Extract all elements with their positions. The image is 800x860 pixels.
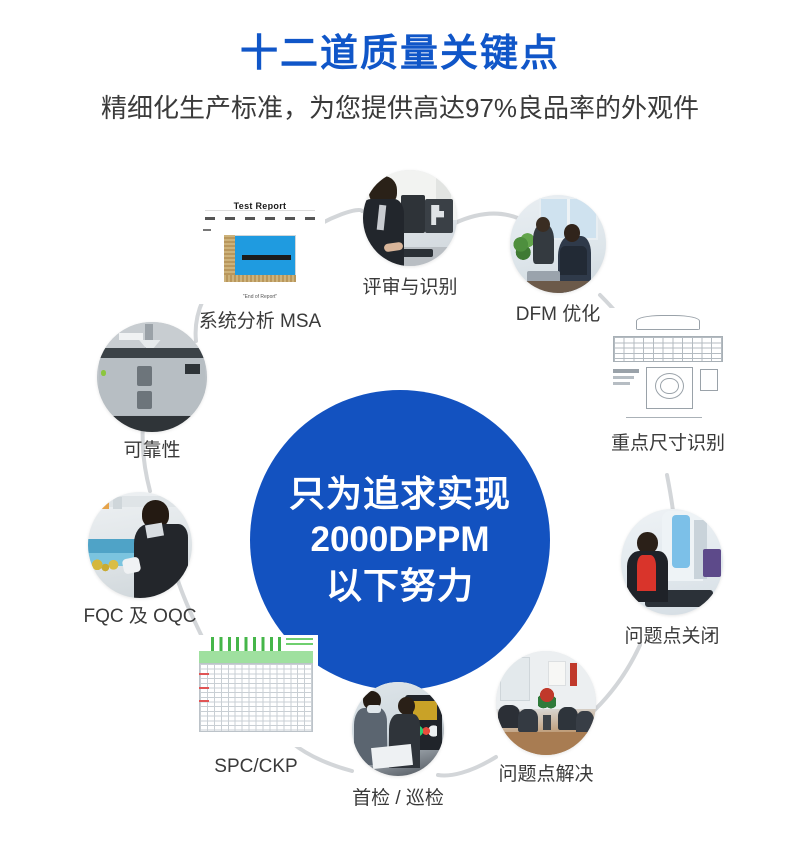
engineers-at-laptops-photo [510,195,606,293]
node-label-close: 问题点关闭 [600,625,744,649]
test-chamber-photo [97,322,207,432]
header: 十二道质量关键点 精细化生产标准，为您提供高达97%良品率的外观件 [0,0,800,150]
node-label-review: 评审与识别 [340,276,480,300]
node-label-first: 首检 / 巡检 [332,787,464,811]
operator-at-measuring-machine-photo [621,509,723,615]
man-at-monitors-photo [363,170,457,266]
node-label-reliability: 可靠性 [96,439,208,463]
page-subtitle: 精细化生产标准，为您提供高达97%良品率的外观件 [0,90,800,126]
node-label-spc: SPC/CKP [194,755,318,779]
spreadsheet-chart-image [194,635,318,747]
center-line-2: 2000DPPM [311,517,490,563]
page-title: 十二道质量关键点 [0,30,800,78]
quality-cycle-diagram: 只为追求实现 2000DPPM 以下努力 Test Report "End of… [0,145,800,860]
center-line-1: 只为追求实现 [289,471,511,517]
node-label-fqc: FQC 及 OQC [62,605,218,629]
infographic-page: 十二道质量关键点 精细化生产标准，为您提供高达97%良品率的外观件 [0,0,800,860]
workers-at-cnc-photo [352,682,444,776]
document-caption: "End of Report" [195,294,325,300]
center-line-3: 以下努力 [326,563,474,609]
inspector-at-bench-photo [88,492,192,598]
cad-drawing-image [602,308,734,426]
test-report-document-image: Test Report "End of Report" [195,192,325,304]
meeting-room-photo [496,651,596,755]
node-label-solve: 问题点解决 [474,763,618,787]
node-label-dimension: 重点尺寸识别 [582,432,754,456]
